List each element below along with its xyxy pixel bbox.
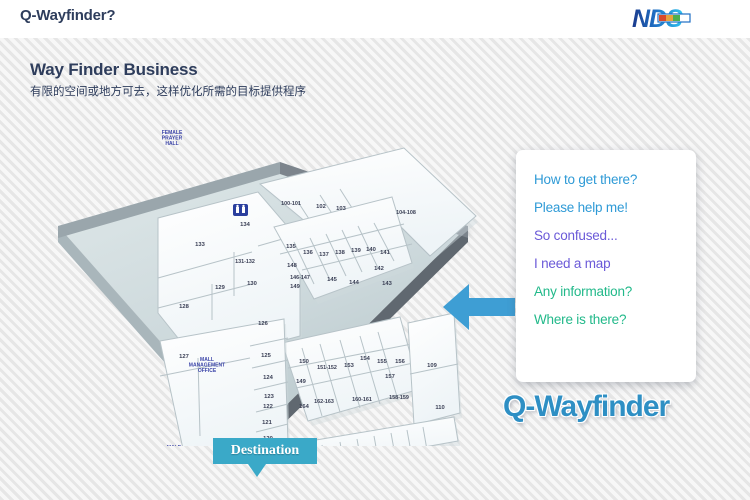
slide-header: Q-Wayfinder? NDS xyxy=(0,0,750,38)
room-number: 150 xyxy=(299,359,309,365)
room-number: 125 xyxy=(261,353,271,359)
room-number: 110 xyxy=(435,405,444,411)
section-subtitle: 有限的空间或地方可去，这样优化所需的目标提供程序 xyxy=(30,83,306,99)
room-number: 129 xyxy=(215,285,225,291)
room-number: 136 xyxy=(303,250,313,256)
room-number: 156 xyxy=(395,359,405,365)
room-number: 143 xyxy=(382,281,392,287)
room-number: 128 xyxy=(179,304,189,310)
page-title: Q-Wayfinder? xyxy=(20,7,115,24)
room-number: 146-147 xyxy=(290,275,310,281)
question-line: So confused... xyxy=(534,228,696,243)
restroom-icon xyxy=(233,204,248,216)
room-number: 100-101 xyxy=(281,201,301,207)
area-name: FEMALEPRAYERHALL xyxy=(162,130,183,147)
destination-callout-tail xyxy=(248,464,266,477)
room-number: 124 xyxy=(263,375,273,381)
room-number: 121 xyxy=(262,420,272,426)
room-number: 160-161 xyxy=(352,397,372,403)
room-number: 140 xyxy=(366,247,376,253)
room-number: 138 xyxy=(335,250,345,256)
floor-plan-map[interactable]: 100-101102103104-10813313413513613713813… xyxy=(42,116,482,446)
floor-plan-svg: 100-101102103104-10813313413513613713813… xyxy=(42,116,482,446)
room-number: 123 xyxy=(264,394,274,400)
room-number: 157 xyxy=(385,374,395,380)
room-number: 155 xyxy=(377,359,387,365)
area-name: MALEPRAYERHALL xyxy=(164,445,185,446)
room-number: 142 xyxy=(374,266,384,272)
room-number: 154 xyxy=(360,356,370,362)
room-number: 130 xyxy=(247,281,257,287)
question-line: Where is there? xyxy=(534,312,696,327)
section-heading: Way Finder Business 有限的空间或地方可去，这样优化所需的目标… xyxy=(30,60,306,99)
room-number: 149 xyxy=(290,284,300,290)
room-number: 158-159 xyxy=(389,395,409,401)
room-number: 149 xyxy=(296,379,306,385)
questions-panel: How to get there?Please help me!So confu… xyxy=(516,150,696,382)
slide-body: Way Finder Business 有限的空间或地方可去，这样优化所需的目标… xyxy=(0,38,750,500)
room-number: 131-132 xyxy=(235,259,255,265)
question-line: Please help me! xyxy=(534,200,696,215)
room-number: 151-152 xyxy=(317,365,337,371)
question-line: I need a map xyxy=(534,256,696,271)
question-list: How to get there?Please help me!So confu… xyxy=(534,172,696,327)
room-number: 103 xyxy=(336,206,346,212)
question-line: Any information? xyxy=(534,284,696,299)
question-line: How to get there? xyxy=(534,172,696,187)
room-number: 141 xyxy=(380,250,390,256)
pointing-arrow xyxy=(443,278,515,336)
room-number: 137 xyxy=(319,252,329,258)
room-number: 102 xyxy=(316,204,326,210)
room-number: 144 xyxy=(349,280,359,286)
brand-wordmark: Q-Wayfinder xyxy=(503,390,669,424)
room-number: 109 xyxy=(427,363,437,369)
room-number: 122 xyxy=(263,404,273,410)
room-number: 162-163 xyxy=(314,399,334,405)
room-number: 135 xyxy=(286,244,296,250)
room-number: 133 xyxy=(195,242,205,248)
nds-logo: NDS xyxy=(630,4,734,32)
room-number: 104-108 xyxy=(396,210,416,216)
destination-callout[interactable]: Destination xyxy=(213,438,317,464)
room-number: 153 xyxy=(344,363,354,369)
room-number: 164 xyxy=(299,404,309,410)
destination-label: Destination xyxy=(231,443,299,459)
room-number: 148 xyxy=(287,263,297,269)
room-number: 126 xyxy=(258,321,268,327)
room-number: 127 xyxy=(179,354,189,360)
section-title: Way Finder Business xyxy=(30,60,306,80)
room-number: 139 xyxy=(351,248,361,254)
room-number: 134 xyxy=(240,222,250,228)
room-number: 145 xyxy=(327,277,337,283)
